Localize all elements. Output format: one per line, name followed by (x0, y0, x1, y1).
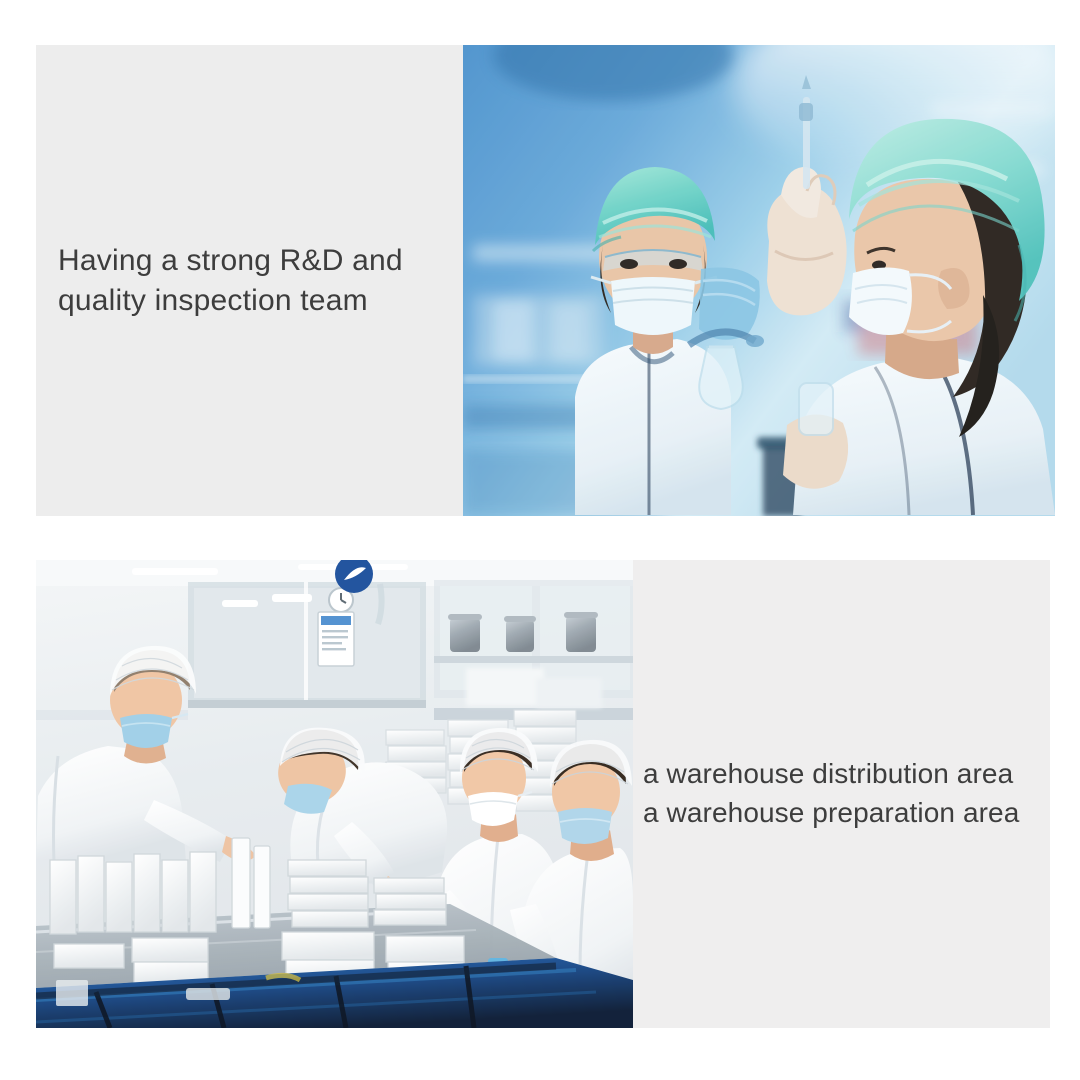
lab-quality-inspection-photo (463, 45, 1055, 516)
page-canvas: Having a strong R&D and quality inspecti… (0, 0, 1080, 1080)
lab-photo-illustration (463, 45, 1055, 516)
rnd-caption: Having a strong R&D and quality inspecti… (36, 241, 413, 320)
warehouse-photo-illustration (36, 560, 633, 1028)
rnd-text-panel: Having a strong R&D and quality inspecti… (36, 45, 463, 516)
section-rnd-team: Having a strong R&D and quality inspecti… (36, 45, 1055, 516)
warehouse-caption: a warehouse distribution area a warehous… (633, 755, 1025, 832)
warehouse-text-panel: a warehouse distribution area a warehous… (633, 560, 1050, 1028)
section-warehouse: a warehouse distribution area a warehous… (36, 560, 1050, 1028)
warehouse-packing-photo (36, 560, 633, 1028)
